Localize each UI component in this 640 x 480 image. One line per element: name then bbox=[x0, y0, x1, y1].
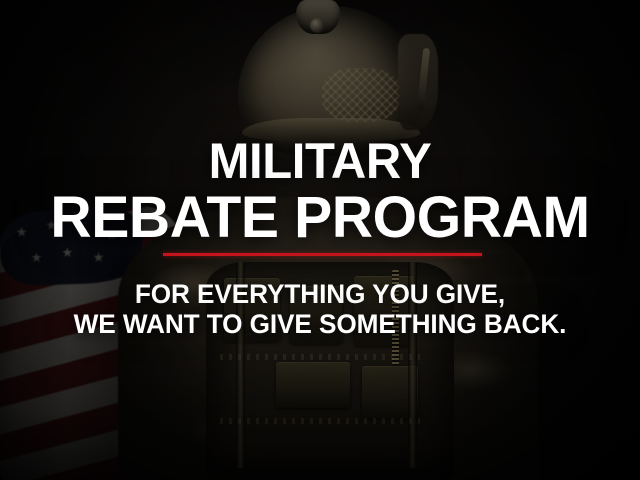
red-divider-rule bbox=[163, 253, 482, 256]
headline-line-1: MILITARY bbox=[6, 136, 633, 186]
headline-line-2: REBATE PROGRAM bbox=[5, 189, 635, 247]
military-rebate-banner: MILITARY REBATE PROGRAM FOR EVERYTHING Y… bbox=[0, 0, 640, 480]
subheadline-line-2: WE WANT TO GIVE SOMETHING BACK. bbox=[10, 311, 631, 338]
text-overlay: MILITARY REBATE PROGRAM FOR EVERYTHING Y… bbox=[0, 0, 640, 480]
subheadline-line-1: FOR EVERYTHING YOU GIVE, bbox=[10, 281, 631, 308]
